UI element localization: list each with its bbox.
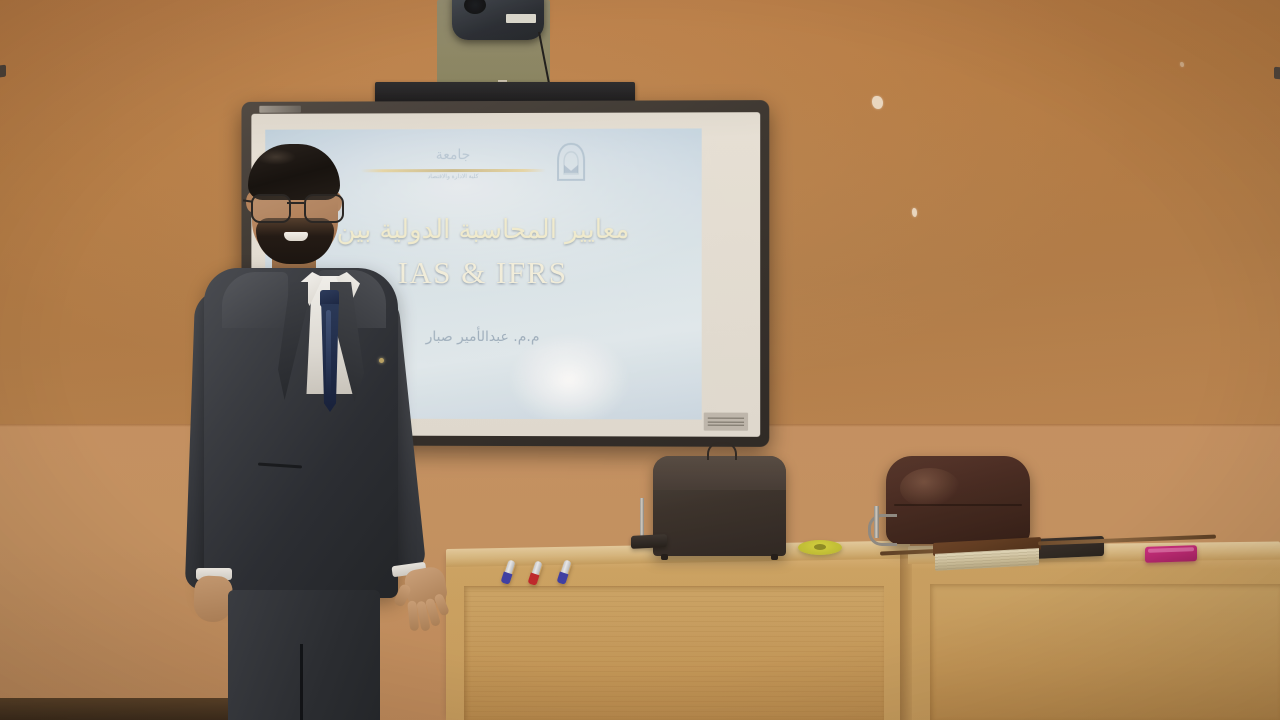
right-hand	[399, 564, 457, 633]
suit	[176, 268, 422, 720]
glasses-bridge	[287, 202, 304, 204]
classroom-scene: جامعة كلية الادارة والاقتصاد معايير المح…	[0, 0, 1280, 720]
bag-handle[interactable]	[707, 442, 737, 460]
bag-foot	[661, 554, 668, 560]
projector-glare	[509, 334, 629, 420]
paint-chip	[1180, 62, 1184, 67]
board-brand-logo	[259, 106, 301, 113]
jacket-pocket	[258, 462, 302, 468]
bag-flap	[653, 456, 786, 490]
projector-lens-icon	[464, 0, 486, 14]
board-model-sticker	[704, 413, 748, 431]
projector-label	[506, 14, 536, 23]
glasses-temple	[243, 199, 252, 203]
yellow-tape-roll[interactable]	[798, 540, 842, 555]
paint-chip	[872, 96, 883, 109]
chair-post	[874, 506, 879, 538]
presenter	[150, 140, 450, 720]
hardcover-book[interactable]	[933, 537, 1041, 573]
right-desk-front-panel	[930, 584, 1280, 720]
beard	[256, 218, 334, 264]
lens-left	[251, 194, 291, 223]
chair-backrest	[886, 456, 1030, 544]
laptop-bag[interactable]	[653, 456, 786, 556]
lens-right	[304, 194, 344, 223]
pink-notebook[interactable]	[1145, 545, 1197, 563]
tie-highlight	[326, 310, 331, 396]
hair	[248, 144, 340, 200]
university-arch-icon	[554, 143, 588, 183]
lapel-pin	[379, 358, 384, 363]
left-desk-front-panel	[464, 586, 884, 720]
smile	[284, 232, 308, 241]
leg-seam	[300, 644, 303, 720]
chair-armrest	[868, 514, 897, 546]
eyeglasses-icon	[249, 194, 342, 219]
trousers	[228, 590, 380, 720]
chair-seam	[894, 504, 1022, 506]
left-shoulder	[222, 272, 288, 328]
ceiling-projector	[452, 0, 544, 40]
chair-highlight	[900, 468, 960, 508]
bag-foot	[771, 554, 778, 560]
paint-chip	[912, 208, 917, 217]
suit-jacket	[204, 268, 398, 598]
phone-on-desk[interactable]	[631, 534, 667, 549]
